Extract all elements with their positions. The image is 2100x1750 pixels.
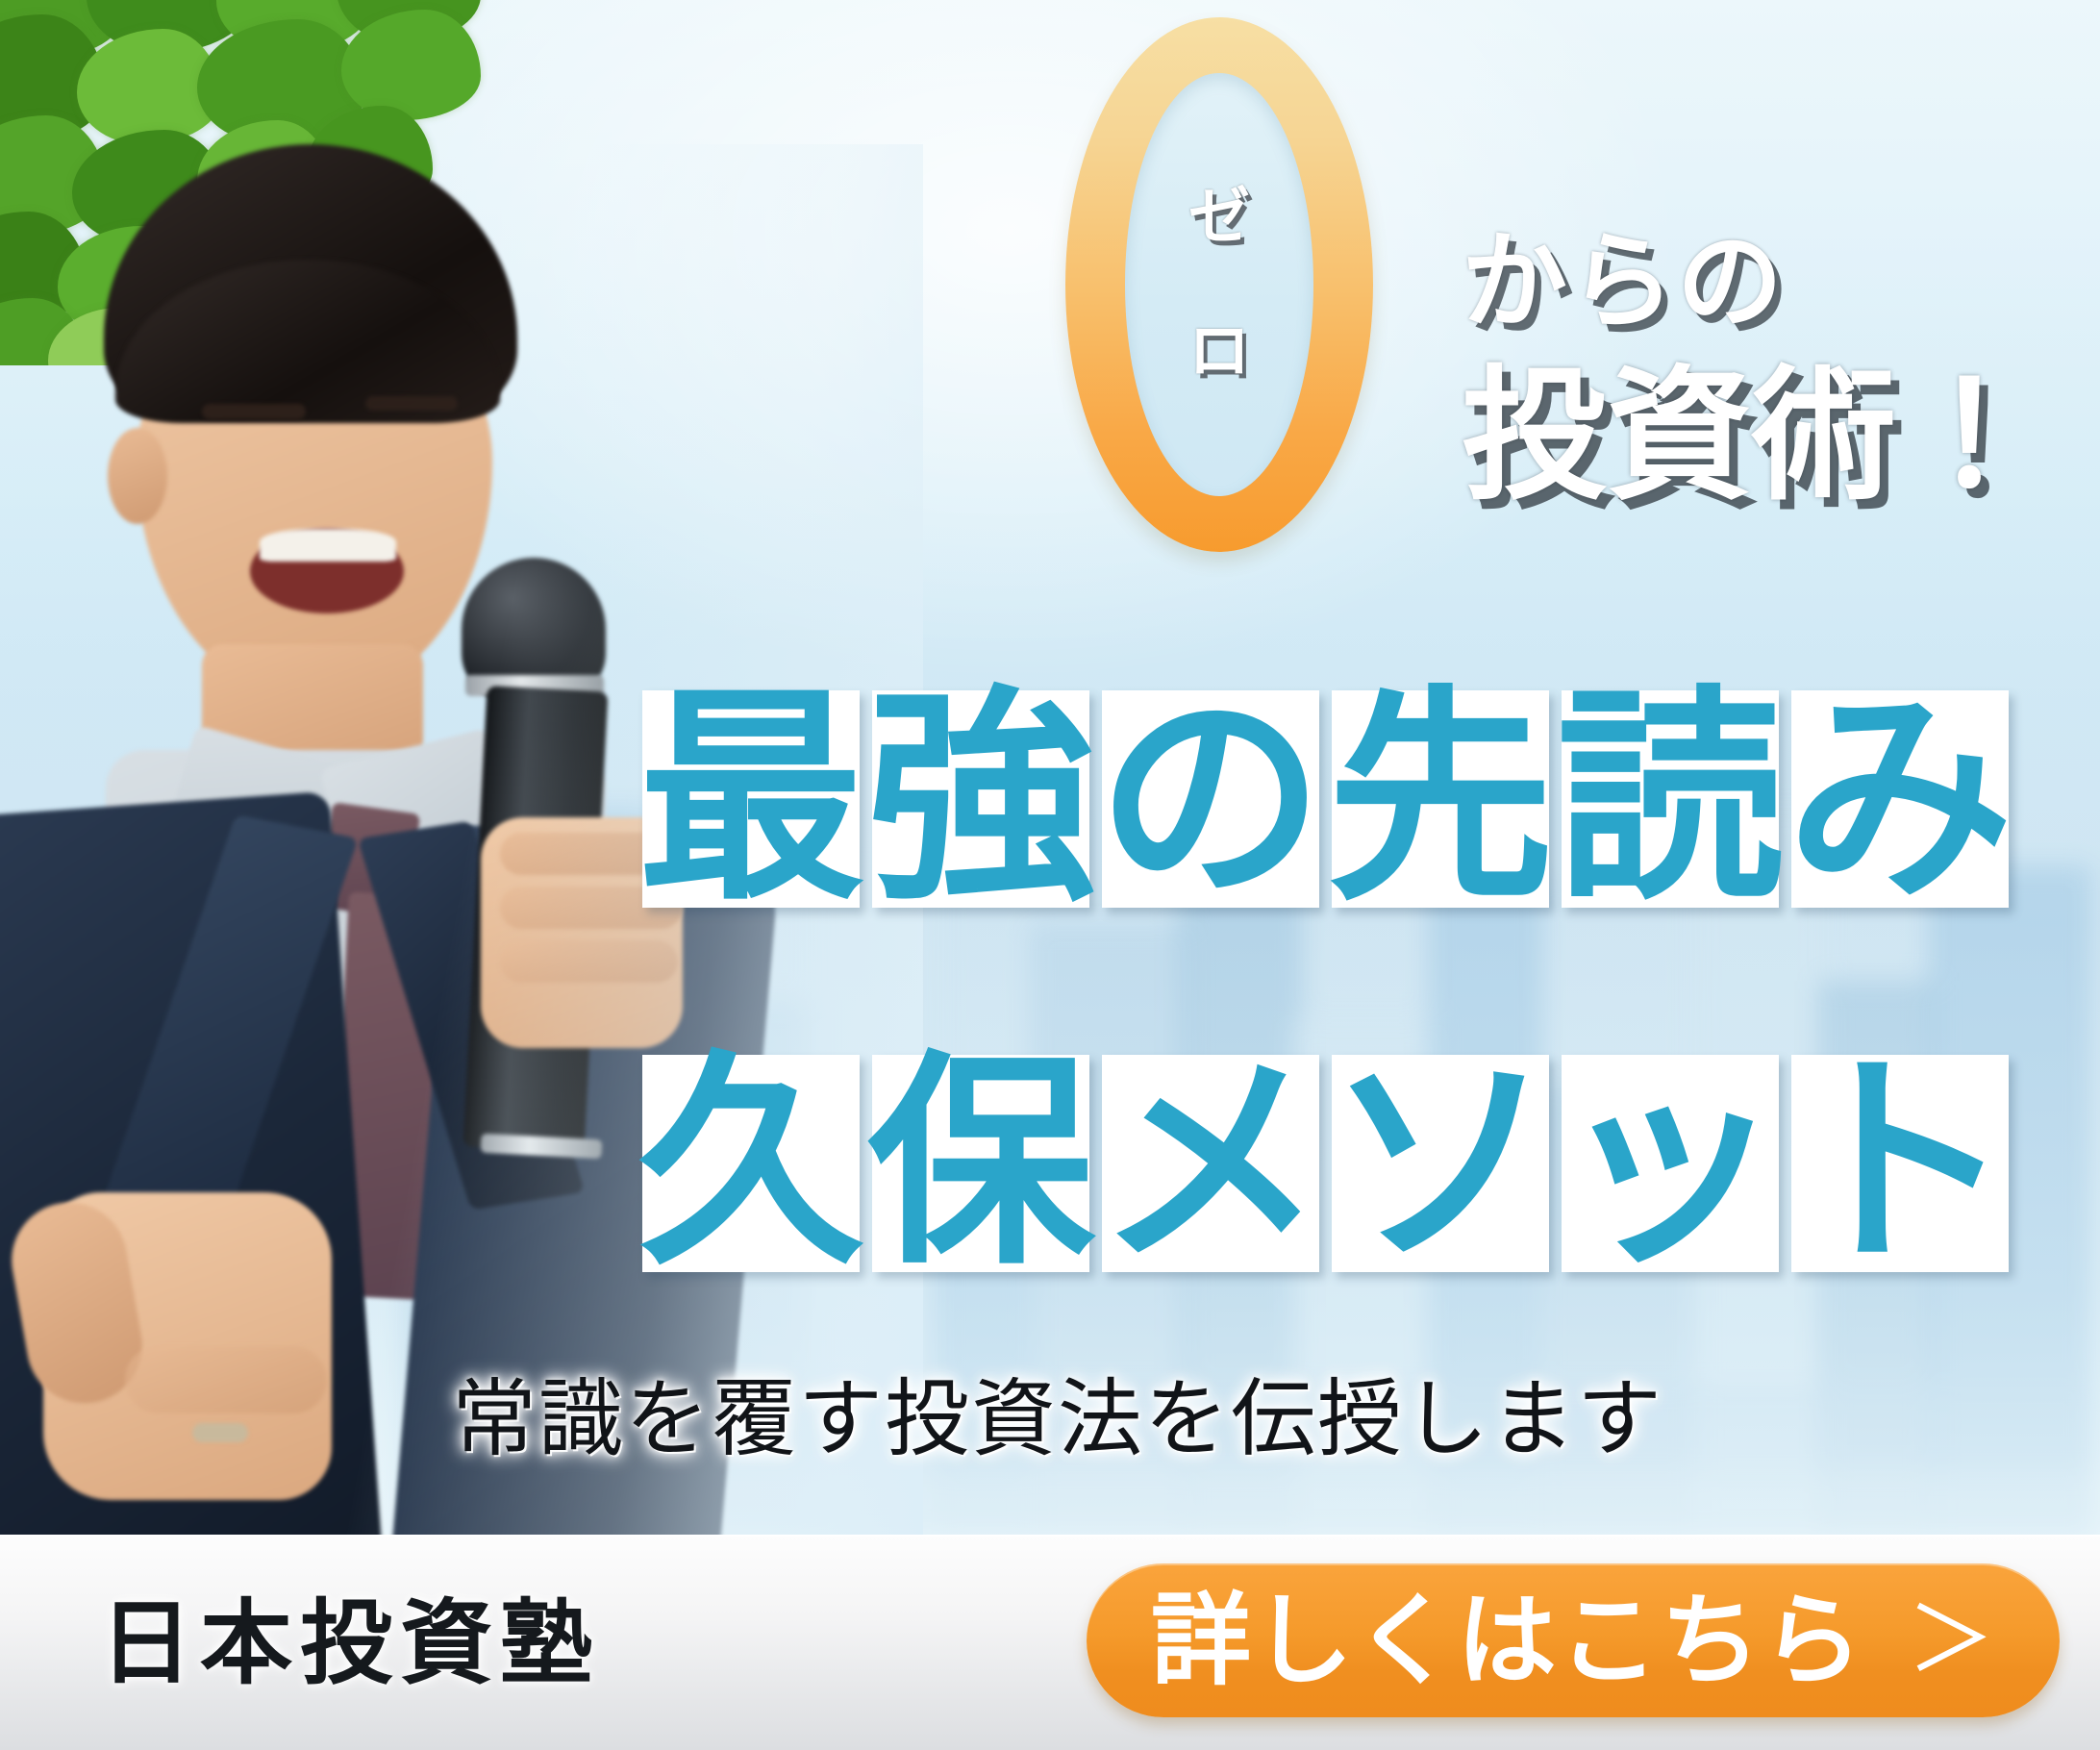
headline-char-box: の: [1102, 690, 1319, 908]
bottom-bar: 日本投資塾 詳しくはこちら ＞: [0, 1535, 2100, 1750]
zero-logo: ゼ ロ: [1065, 17, 1373, 556]
headline-char-box: ッ: [1562, 1055, 1779, 1272]
headline-char: の: [1097, 686, 1324, 912]
headline-char: 先: [1327, 686, 1554, 912]
headline-char: ソ: [1327, 1050, 1554, 1277]
cta-label: 詳しくはこちら: [1151, 1590, 1864, 1690]
kicker-line-1: からの: [1462, 229, 2077, 335]
headline-char-box: 読: [1562, 690, 1779, 908]
headline-char: 読: [1557, 686, 1784, 912]
chevron-right-icon: ＞: [1907, 1596, 1995, 1685]
headline-char-box: 最: [642, 690, 860, 908]
headline-char-box: メ: [1102, 1055, 1319, 1272]
zero-kana-bottom: ロ: [1188, 321, 1250, 383]
zero-kana-top: ゼ: [1188, 187, 1250, 248]
brand-name: 日本投資塾: [100, 1597, 600, 1689]
headline-char: 最: [637, 686, 864, 912]
headline-char-box: 保: [872, 1055, 1089, 1272]
headline-char: 保: [867, 1050, 1094, 1277]
headline-char: 久: [637, 1050, 864, 1277]
headline-char-box: 先: [1332, 690, 1549, 908]
ad-banner: ゼ ロ からの 投資術！ 最 強 の 先 読 み 久 保 メ ソ ッ ト 常識を…: [0, 0, 2100, 1750]
headline-char: ト: [1787, 1050, 2013, 1277]
headline-char-box: み: [1791, 690, 2009, 908]
headline-char-box: 久: [642, 1055, 860, 1272]
headline-line-1: 最 強 の 先 読 み: [642, 690, 2065, 908]
headline-line-2: 久 保 メ ソ ッ ト: [642, 1055, 2065, 1272]
headline-char-box: ト: [1791, 1055, 2009, 1272]
headline: 最 強 の 先 読 み 久 保 メ ソ ッ ト: [642, 690, 2065, 1272]
zero-kana-label: ゼ ロ: [1125, 73, 1313, 496]
subtitle: 常識を覆す投資法を伝授します: [452, 1373, 1663, 1466]
kicker-text: からの 投資術！: [1462, 229, 2077, 511]
headline-char-box: 強: [872, 690, 1089, 908]
headline-char: メ: [1097, 1050, 1324, 1277]
kicker-line-2: 投資術！: [1462, 363, 2077, 511]
headline-char: み: [1787, 686, 2013, 912]
headline-char: ッ: [1557, 1050, 1784, 1277]
headline-char-box: ソ: [1332, 1055, 1549, 1272]
headline-char: 強: [867, 686, 1094, 912]
cta-button[interactable]: 詳しくはこちら ＞: [1087, 1563, 2060, 1717]
